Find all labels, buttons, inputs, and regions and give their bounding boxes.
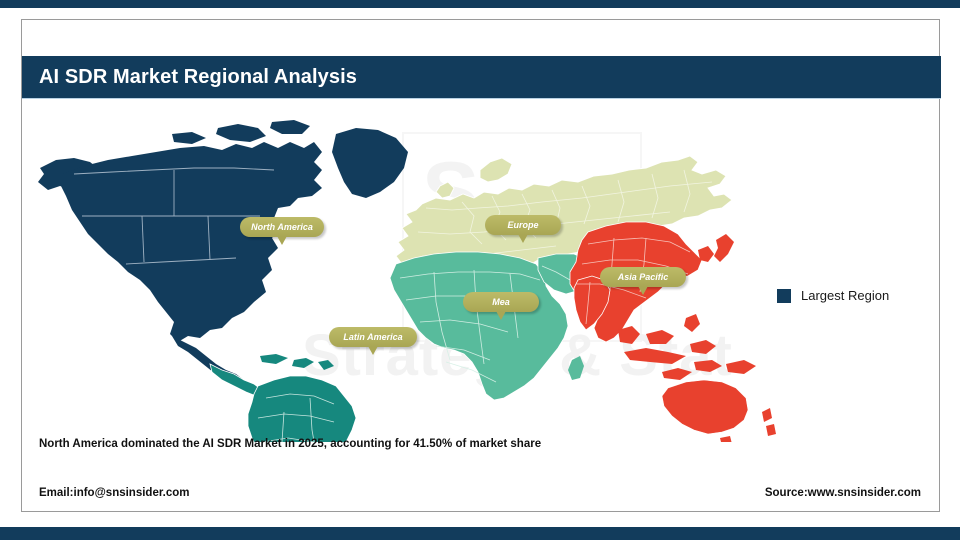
map-region-latin-america[interactable] [210,354,356,442]
page-title: AI SDR Market Regional Analysis [22,66,357,89]
top-accent-bar [0,0,960,8]
insight-text: North America dominated the AI SDR Marke… [39,438,541,450]
email-text: Email:info@snsinsider.com [39,487,190,499]
title-bar: AI SDR Market Regional Analysis [22,56,941,99]
map-label-asia-pacific[interactable]: Asia Pacific [600,267,686,287]
map-label-asia-pacific-text: Asia Pacific [618,272,669,282]
map-label-europe[interactable]: Europe [485,215,561,235]
map-label-mea-text: Mea [492,297,510,307]
map-region-mea[interactable] [390,252,596,400]
map-label-europe-text: Europe [507,220,538,230]
world-map: S Strategy & Stat [22,112,782,442]
source-text: Source:www.snsinsider.com [765,487,921,499]
content-card: AI SDR Market Regional Analysis S Strate… [21,19,940,512]
map-label-latin-america-text: Latin America [343,332,402,342]
map-label-north-america[interactable]: North America [240,217,324,237]
slide-root: AI SDR Market Regional Analysis S Strate… [0,0,960,540]
bottom-accent-bar [0,527,960,540]
map-label-north-america-text: North America [251,222,313,232]
legend-swatch-largest-region [777,289,791,303]
map-region-asia-pacific[interactable] [570,222,776,442]
map-label-mea[interactable]: Mea [463,292,539,312]
legend-label-largest-region: Largest Region [801,288,889,303]
map-label-latin-america[interactable]: Latin America [329,327,417,347]
legend: Largest Region [777,288,889,303]
